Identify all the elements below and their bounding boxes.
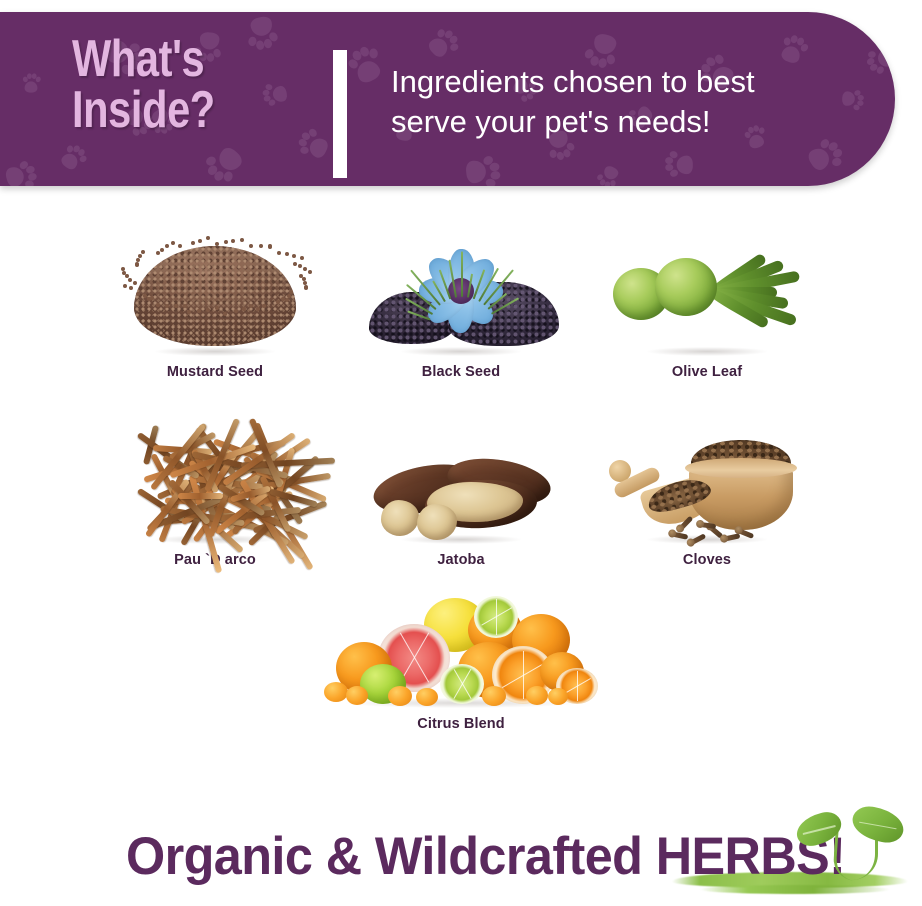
- nigella-flower-icon: [407, 248, 515, 334]
- mustard-seed: [268, 245, 272, 249]
- mustard-seed: [183, 304, 187, 308]
- paw-print-icon: [594, 162, 625, 186]
- mustard-seed: [215, 242, 219, 246]
- mustard-seed: [150, 296, 154, 300]
- olive-leaf-icon: [607, 210, 807, 360]
- ingredient-row: Pau `D arco Jatoba: [0, 398, 922, 568]
- paw-print-icon: [54, 138, 91, 175]
- paw-print-icon: [463, 151, 503, 186]
- ingredient-label: Olive Leaf: [584, 364, 830, 380]
- mustard-seed: [136, 292, 140, 296]
- mustard-seed-icon: [115, 210, 315, 360]
- drop-shadow: [401, 347, 521, 356]
- mustard-seed: [129, 286, 133, 290]
- ingredient-item-black-seed: Black Seed: [338, 210, 584, 380]
- bark-strip: [178, 493, 223, 499]
- seed-texture: [134, 246, 296, 346]
- mustard-seed: [224, 240, 228, 244]
- mustard-seed: [242, 307, 246, 311]
- mustard-seed: [293, 262, 297, 266]
- ingredient-label: Jatoba: [338, 552, 584, 568]
- black-seed-icon: [361, 210, 561, 360]
- drop-shadow: [401, 535, 521, 544]
- mustard-seed: [277, 251, 281, 255]
- mustard-seed: [259, 244, 263, 248]
- bowl-rim: [685, 458, 797, 478]
- citrus-kumquat: [526, 686, 548, 705]
- mustard-seed: [121, 267, 125, 271]
- mustard-seed: [125, 274, 129, 278]
- ingredient-item-pau-darco: Pau `D arco: [92, 398, 338, 568]
- olive-fruit: [655, 258, 717, 316]
- paw-print-icon: [340, 40, 390, 90]
- drop-shadow: [647, 347, 767, 356]
- mustard-seed: [240, 238, 244, 242]
- mustard-seed: [178, 244, 182, 248]
- jatoba-icon: [361, 398, 561, 548]
- citrus-kumquat: [548, 688, 568, 705]
- ingredient-item-mustard-seed: Mustard Seed: [92, 210, 338, 380]
- page-title: What's Inside?: [72, 34, 272, 136]
- paw-print-icon: [664, 150, 694, 180]
- mustard-seed: [308, 270, 312, 274]
- drop-shadow: [155, 347, 275, 356]
- paw-print-icon: [21, 73, 42, 94]
- header-banner: What's Inside? Ingredients chosen to bes…: [0, 12, 895, 186]
- ingredient-item-olive-leaf: Olive Leaf: [584, 210, 830, 380]
- mustard-seed: [136, 258, 140, 262]
- mustard-seed: [160, 248, 164, 252]
- mustard-seed: [138, 254, 142, 258]
- citrus-kumquat: [416, 688, 438, 706]
- mustard-seed: [191, 241, 195, 245]
- mustard-seed: [206, 236, 210, 240]
- header-subtitle: Ingredients chosen to best serve your pe…: [391, 62, 871, 143]
- promo-graphic: What's Inside? Ingredients chosen to bes…: [0, 0, 922, 906]
- citrus-lime-half: [474, 596, 518, 638]
- citrus-kumquat: [482, 686, 506, 706]
- citrus-kumquat: [324, 682, 348, 702]
- pau-darco-icon: [115, 398, 315, 548]
- citrus-blend-icon: [316, 590, 606, 710]
- seed-heap: [134, 246, 296, 346]
- mustard-seed: [165, 304, 169, 308]
- mustard-seed: [133, 281, 137, 285]
- bark-heap: [127, 438, 303, 534]
- citrus-kumquat: [346, 686, 368, 705]
- mustard-seed: [234, 309, 238, 313]
- footer-headline: Organic & Wildcrafted HERBS!: [126, 826, 845, 887]
- ingredient-label: Mustard Seed: [92, 364, 338, 380]
- ingredient-label: Citrus Blend: [316, 716, 606, 732]
- ingredient-label: Black Seed: [338, 364, 584, 380]
- mustard-seed: [223, 312, 227, 316]
- mustard-seed: [141, 250, 145, 254]
- mustard-seed: [143, 294, 147, 298]
- mustard-seed: [262, 304, 266, 308]
- mustard-seed: [292, 254, 296, 258]
- mustard-seed: [281, 297, 285, 301]
- mustard-seed: [231, 239, 235, 243]
- ingredient-item-cloves: Cloves: [584, 398, 830, 568]
- paw-print-icon: [292, 124, 334, 166]
- title-divider: [333, 50, 347, 178]
- mustard-seed: [298, 264, 302, 268]
- citrus-lime-half: [440, 664, 484, 704]
- cloves-icon: [607, 398, 807, 548]
- ingredient-item-citrus-blend: Citrus Blend: [316, 590, 606, 732]
- mustard-seed: [165, 244, 169, 248]
- sprout-icon: [790, 806, 910, 880]
- mustard-seed: [128, 278, 132, 282]
- mustard-seed: [156, 251, 160, 255]
- mustard-seed: [123, 284, 127, 288]
- mustard-seed: [285, 252, 289, 256]
- ingredient-row: Mustard Seed Black Seed: [0, 210, 922, 380]
- jatoba-pulp-nugget: [381, 500, 419, 536]
- ingredient-grid: Mustard Seed Black Seed: [0, 210, 922, 732]
- mustard-seed: [135, 262, 139, 266]
- mustard-seed: [171, 241, 175, 245]
- paw-print-icon: [421, 21, 464, 64]
- mustard-seed: [285, 298, 289, 302]
- paw-print-icon: [1, 155, 41, 186]
- footer-banner: Organic & Wildcrafted HERBS!: [0, 810, 922, 906]
- ingredient-item-jatoba: Jatoba: [338, 398, 584, 568]
- paw-print-icon: [199, 139, 252, 186]
- mustard-seed: [249, 244, 253, 248]
- mustard-seed: [303, 267, 307, 271]
- citrus-kumquat: [388, 686, 412, 706]
- mustard-seed: [198, 239, 202, 243]
- ingredient-row: Citrus Blend: [0, 590, 922, 732]
- mustard-seed: [300, 256, 304, 260]
- ingredient-label: Cloves: [584, 552, 830, 568]
- mustard-seed: [304, 286, 308, 290]
